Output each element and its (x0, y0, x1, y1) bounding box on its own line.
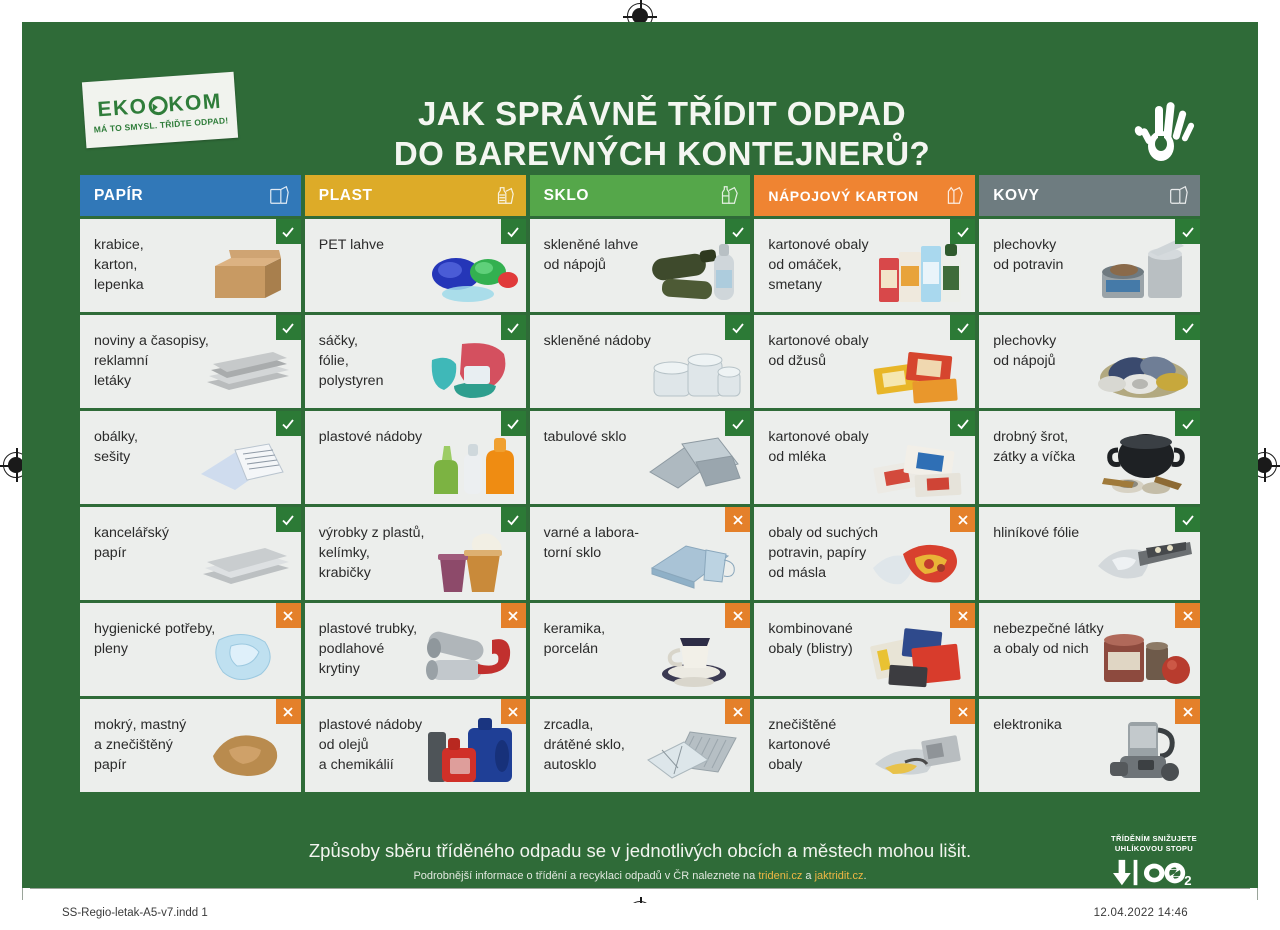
product-photo-flat-glass (644, 428, 744, 500)
co2-mark: 2 (1098, 858, 1210, 888)
column-kovy: KOVY plechovkyod potravin plechovkyod ná… (979, 175, 1200, 792)
cell-text: plastové trubky,podlahovékrytiny (319, 619, 417, 679)
cell-text: kartonové obalyod omáček,smetany (768, 235, 868, 295)
column-header-papir: PAPÍR (80, 175, 301, 216)
cell-text: kancelářskýpapír (94, 523, 169, 563)
status-badge-no (725, 507, 750, 532)
table-cell: krabice,karton,lepenka (80, 219, 301, 312)
status-badge-no (950, 507, 975, 532)
status-badge-no (725, 603, 750, 628)
page-title-line-2: DO BAREVNÝCH KONTEJNERŮ? (262, 134, 1062, 174)
product-photo-cardboard-box (195, 236, 295, 308)
table-cell: kartonové obalyod mléka (754, 411, 975, 504)
table-cell: skleněné nádoby (530, 315, 751, 408)
status-badge-yes (1175, 315, 1200, 340)
status-badge-yes (1175, 219, 1200, 244)
product-photo-greasy-paper (195, 716, 295, 788)
cell-text: keramika,porcelán (544, 619, 606, 659)
status-badge-no (276, 603, 301, 628)
status-badge-no (950, 699, 975, 724)
ekokom-logo: EKO KOM MÁ TO SMYSL. TŘIĎTE ODPAD! (82, 72, 238, 148)
product-photo-hazardous-cans (1094, 620, 1194, 692)
status-badge-no (501, 699, 526, 724)
carbon-badge-line-1: TŘÍDĚNÍM SNIŽUJETE (1098, 834, 1210, 844)
table-cell: plastové trubky,podlahovékrytiny (305, 603, 526, 696)
column-header-label: PLAST (319, 187, 373, 205)
product-photo-juice-cartons (869, 332, 969, 404)
cell-text: výrobky z plastů,kelímky,krabičky (319, 523, 425, 583)
product-photo-plastic-bags (420, 332, 520, 404)
cell-text: nebezpečné látkya obaly od nich (993, 619, 1103, 659)
handprint-icon (1128, 84, 1202, 164)
cell-text: plastové nádobyod olejůa chemikálií (319, 715, 422, 775)
carbon-badge-line-2: UHLÍKOVOU STOPU (1098, 844, 1210, 854)
cell-text: kombinovanéobaly (blistry) (768, 619, 852, 659)
print-timestamp: 12.04.2022 14:46 (1094, 907, 1188, 919)
cell-text: krabice,karton,lepenka (94, 235, 144, 295)
crop-line-bottom (30, 888, 1250, 889)
table-cell: nebezpečné látkya obaly od nich (979, 603, 1200, 696)
cell-text: sáčky,fólie,polystyren (319, 331, 384, 391)
column-header-plast: PLAST (305, 175, 526, 216)
status-badge-no (950, 603, 975, 628)
product-photo-porcelain-cup (644, 620, 744, 692)
carbon-footprint-badge: TŘÍDĚNÍM SNIŽUJETE UHLÍKOVOU STOPU 2 (1098, 834, 1210, 888)
status-badge-yes (501, 315, 526, 340)
product-photo-dry-food-wrappers (869, 524, 969, 596)
ekokom-logo-text-right: KOM (168, 90, 223, 115)
product-photo-oil-canisters (420, 716, 520, 788)
link-jaktridit-cz[interactable]: jaktridit.cz (815, 870, 864, 882)
table-cell: obálky,sešity (80, 411, 301, 504)
table-cell: výrobky z plastů,kelímky,krabičky (305, 507, 526, 600)
link-trideni-cz[interactable]: trideni.cz (758, 870, 802, 882)
print-status-bar: SS-Regio-letak-A5-v7.indd 1 12.04.2022 1… (0, 903, 1280, 930)
product-photo-office-paper (195, 524, 295, 596)
cell-text: hliníkové fólie (993, 523, 1079, 543)
ekokom-logo-wordmark: EKO KOM (97, 90, 223, 120)
cell-text: obálky,sešity (94, 427, 138, 467)
product-photo-newspapers (195, 332, 295, 404)
plastic-container-icon (493, 184, 515, 208)
product-photo-sauce-cartons (869, 236, 969, 308)
status-badge-yes (276, 315, 301, 340)
status-badge-yes (501, 411, 526, 436)
recycle-arrow-icon (148, 95, 168, 115)
cell-text: zrcadla,drátěné sklo,autosklo (544, 715, 625, 775)
status-badge-yes (276, 219, 301, 244)
poster-body: EKO KOM MÁ TO SMYSL. TŘIĎTE ODPAD! JAK S… (22, 22, 1258, 888)
ekokom-logo-text-left: EKO (97, 95, 148, 119)
table-cell: kancelářskýpapír (80, 507, 301, 600)
table-cell: tabulové sklo (530, 411, 751, 504)
product-photo-plastic-containers (420, 428, 520, 500)
product-photo-aluminium-foil (1094, 524, 1194, 596)
product-photo-blister-packs (869, 620, 969, 692)
cell-text: hygienické potřeby,pleny (94, 619, 215, 659)
cell-text: obaly od suchýchpotravin, papíryod másla (768, 523, 878, 583)
cell-text: plechovkyod nápojů (993, 331, 1056, 371)
product-photo-notebook (195, 428, 295, 500)
cell-text: kartonové obalyod džusů (768, 331, 868, 371)
poster-page: EKO KOM MÁ TO SMYSL. TŘIĎTE ODPAD! JAK S… (0, 0, 1280, 930)
product-photo-electronics (1094, 716, 1194, 788)
cell-text: skleněné nádoby (544, 331, 651, 351)
table-cell: zrcadla,drátěné sklo,autosklo (530, 699, 751, 792)
status-badge-yes (725, 315, 750, 340)
status-badge-no (501, 603, 526, 628)
cell-text: noviny a časopisy,reklamníletáky (94, 331, 209, 391)
product-photo-mirrors (644, 716, 744, 788)
table-cell: obaly od suchýchpotravin, papíryod másla (754, 507, 975, 600)
status-badge-yes (950, 315, 975, 340)
column-sklo: SKLO skleněné lahveod nápojů (530, 175, 751, 792)
status-badge-yes (725, 411, 750, 436)
column-header-sklo: SKLO (530, 175, 751, 216)
table-cell: mokrý, mastnýa znečištěnýpapír (80, 699, 301, 792)
table-cell: elektronika (979, 699, 1200, 792)
cell-text: plechovkyod potravin (993, 235, 1063, 275)
page-title: JAK SPRÁVNĚ TŘÍDIT ODPAD DO BAREVNÝCH KO… (262, 94, 1062, 175)
table-cell: kartonové obalyod omáček,smetany (754, 219, 975, 312)
table-cell: plechovkyod nápojů (979, 315, 1200, 408)
footer-subnote-period: . (863, 870, 866, 882)
table-cell: skleněné lahveod nápojů (530, 219, 751, 312)
product-photo-drink-cans (1094, 332, 1194, 404)
table-cell: hliníkové fólie (979, 507, 1200, 600)
table-cell: sáčky,fólie,polystyren (305, 315, 526, 408)
column-napojovy-karton: NÁPOJOVÝ KARTON kartonové obalyod omáček… (754, 175, 975, 792)
paper-container-icon (268, 184, 290, 208)
column-header-napojovy-karton: NÁPOJOVÝ KARTON (754, 175, 975, 216)
status-badge-yes (950, 411, 975, 436)
status-badge-yes (501, 219, 526, 244)
product-photo-dirty-cartons (869, 716, 969, 788)
footer-subnote-text: Podrobnější informace o třídění a recykl… (413, 870, 758, 882)
table-cell: drobný šrot,zátky a víčka (979, 411, 1200, 504)
cell-text: skleněné lahveod nápojů (544, 235, 639, 275)
column-plast: PLAST PET lahve sáčky,fólie,p (305, 175, 526, 792)
product-photo-glass-jars (644, 332, 744, 404)
table-cell: znečištěnékartonovéobaly (754, 699, 975, 792)
status-badge-yes (276, 411, 301, 436)
table-cell: varné a labora-torní sklo (530, 507, 751, 600)
column-papir: PAPÍR krabice,karton,lepenka noviny a ča… (80, 175, 301, 792)
cell-text: plastové nádoby (319, 427, 422, 447)
product-photo-milk-cartons (869, 428, 969, 500)
metal-container-icon (1167, 184, 1189, 208)
co2-arrow-recycle-icon: 2 (1113, 858, 1196, 888)
status-badge-no (725, 699, 750, 724)
table-cell: keramika,porcelán (530, 603, 751, 696)
table-cell: PET lahve (305, 219, 526, 312)
table-cell: hygienické potřeby,pleny (80, 603, 301, 696)
table-cell: plechovkyod potravin (979, 219, 1200, 312)
status-badge-yes (1175, 411, 1200, 436)
table-cell: plastové nádoby (305, 411, 526, 504)
product-photo-food-cans (1094, 236, 1194, 308)
column-header-kovy: KOVY (979, 175, 1200, 216)
status-badge-no (1175, 699, 1200, 724)
footer-subnote-between: a (802, 870, 814, 882)
table-cell: plastové nádobyod olejůa chemikálií (305, 699, 526, 792)
table-cell: kartonové obalyod džusů (754, 315, 975, 408)
status-badge-yes (276, 507, 301, 532)
glass-container-icon (717, 184, 739, 208)
product-photo-lab-glass (644, 524, 744, 596)
cell-text: kartonové obalyod mléka (768, 427, 868, 467)
table-cell: noviny a časopisy,reklamníletáky (80, 315, 301, 408)
footer-subnote: Podrobnější informace o třídění a recykl… (22, 870, 1258, 882)
status-badge-yes (501, 507, 526, 532)
status-badge-no (1175, 603, 1200, 628)
cell-text: drobný šrot,zátky a víčka (993, 427, 1075, 467)
product-photo-plastic-pipes (420, 620, 520, 692)
cell-text: varné a labora-torní sklo (544, 523, 639, 563)
status-badge-yes (1175, 507, 1200, 532)
print-filename: SS-Regio-letak-A5-v7.indd 1 (62, 907, 208, 919)
svg-text:2: 2 (1184, 873, 1191, 888)
cell-text: elektronika (993, 715, 1062, 735)
waste-sorting-table: PAPÍR krabice,karton,lepenka noviny a ča… (80, 175, 1200, 792)
page-title-line-1: JAK SPRÁVNĚ TŘÍDIT ODPAD (418, 95, 906, 132)
status-badge-yes (725, 219, 750, 244)
table-cell: kombinovanéobaly (blistry) (754, 603, 975, 696)
product-photo-plastic-cups (420, 524, 520, 596)
product-photo-scrap-metal (1094, 428, 1194, 500)
column-header-label: PAPÍR (94, 187, 143, 205)
cell-text: znečištěnékartonovéobaly (768, 715, 836, 775)
cell-text: PET lahve (319, 235, 384, 255)
column-header-label: NÁPOJOVÝ KARTON (768, 188, 918, 204)
cell-text: mokrý, mastnýa znečištěnýpapír (94, 715, 186, 775)
status-badge-yes (950, 219, 975, 244)
status-badge-no (276, 699, 301, 724)
product-photo-glass-bottles (644, 236, 744, 308)
product-photo-pet-bottles (420, 236, 520, 308)
footer-note: Způsoby sběru tříděného odpadu se v jedn… (22, 840, 1258, 862)
column-header-label: KOVY (993, 187, 1039, 205)
column-header-label: SKLO (544, 187, 589, 205)
cell-text: tabulové sklo (544, 427, 627, 447)
carton-container-icon (942, 184, 964, 208)
